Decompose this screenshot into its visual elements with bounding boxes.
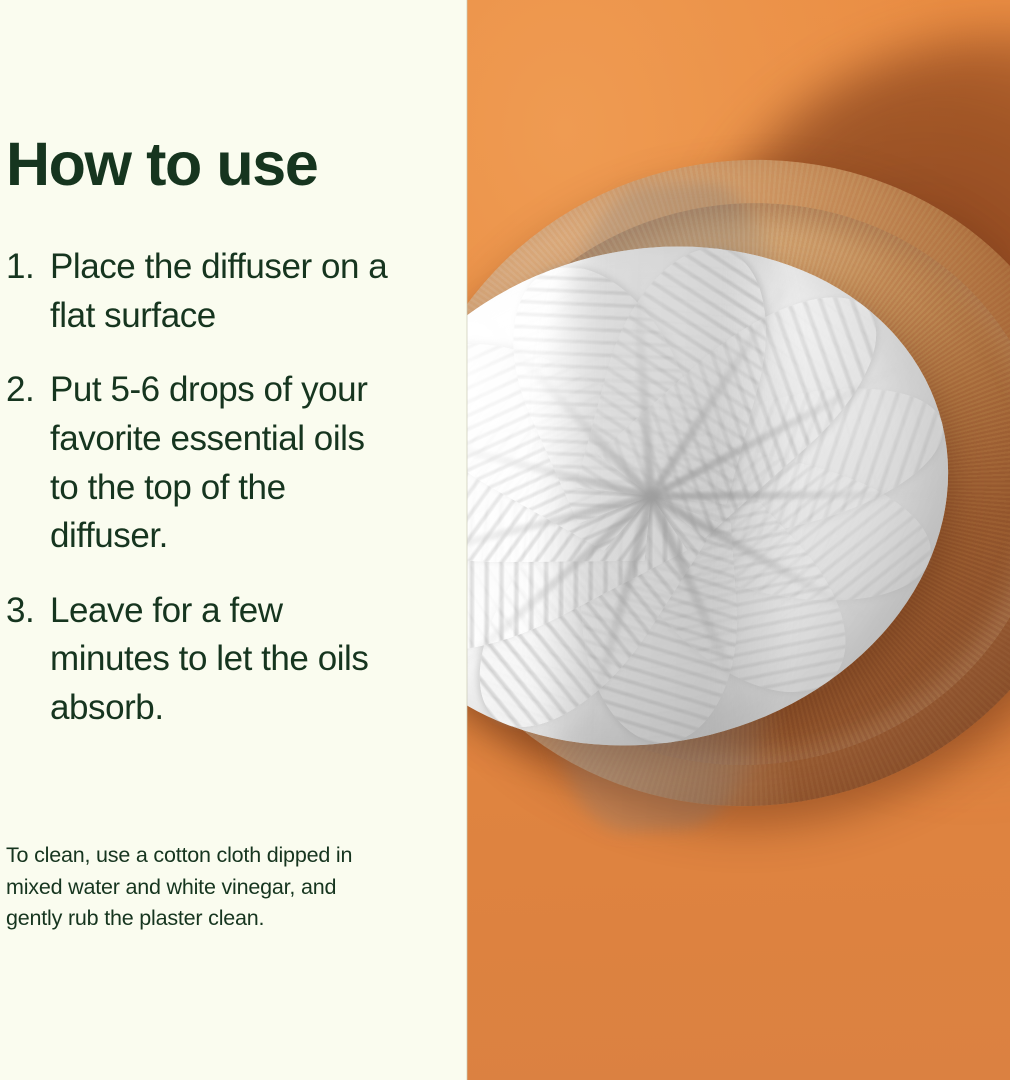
list-item: 1. Place the diffuser on a flat surface [6, 243, 456, 340]
page-title: How to use [6, 134, 317, 195]
instructions-panel: How to use 1. Place the diffuser on a fl… [0, 0, 467, 1080]
product-photo [467, 0, 1010, 1080]
step-text: Leave for a few minutes to let the oils … [50, 587, 388, 733]
how-to-use-panel: How to use 1. Place the diffuser on a fl… [0, 0, 1010, 1080]
list-item: 2. Put 5-6 drops of your favorite essent… [6, 366, 456, 561]
list-item: 3. Leave for a few minutes to let the oi… [6, 587, 456, 733]
steps-list: 1. Place the diffuser on a flat surface … [6, 243, 456, 733]
step-number: 2. [6, 366, 50, 415]
care-instructions-note: To clean, use a cotton cloth dipped in m… [6, 840, 386, 935]
step-number: 1. [6, 243, 50, 292]
step-number: 3. [6, 587, 50, 636]
step-text: Put 5-6 drops of your favorite essential… [50, 366, 388, 561]
panel-divider [466, 0, 468, 1080]
step-text: Place the diffuser on a flat surface [50, 243, 388, 340]
